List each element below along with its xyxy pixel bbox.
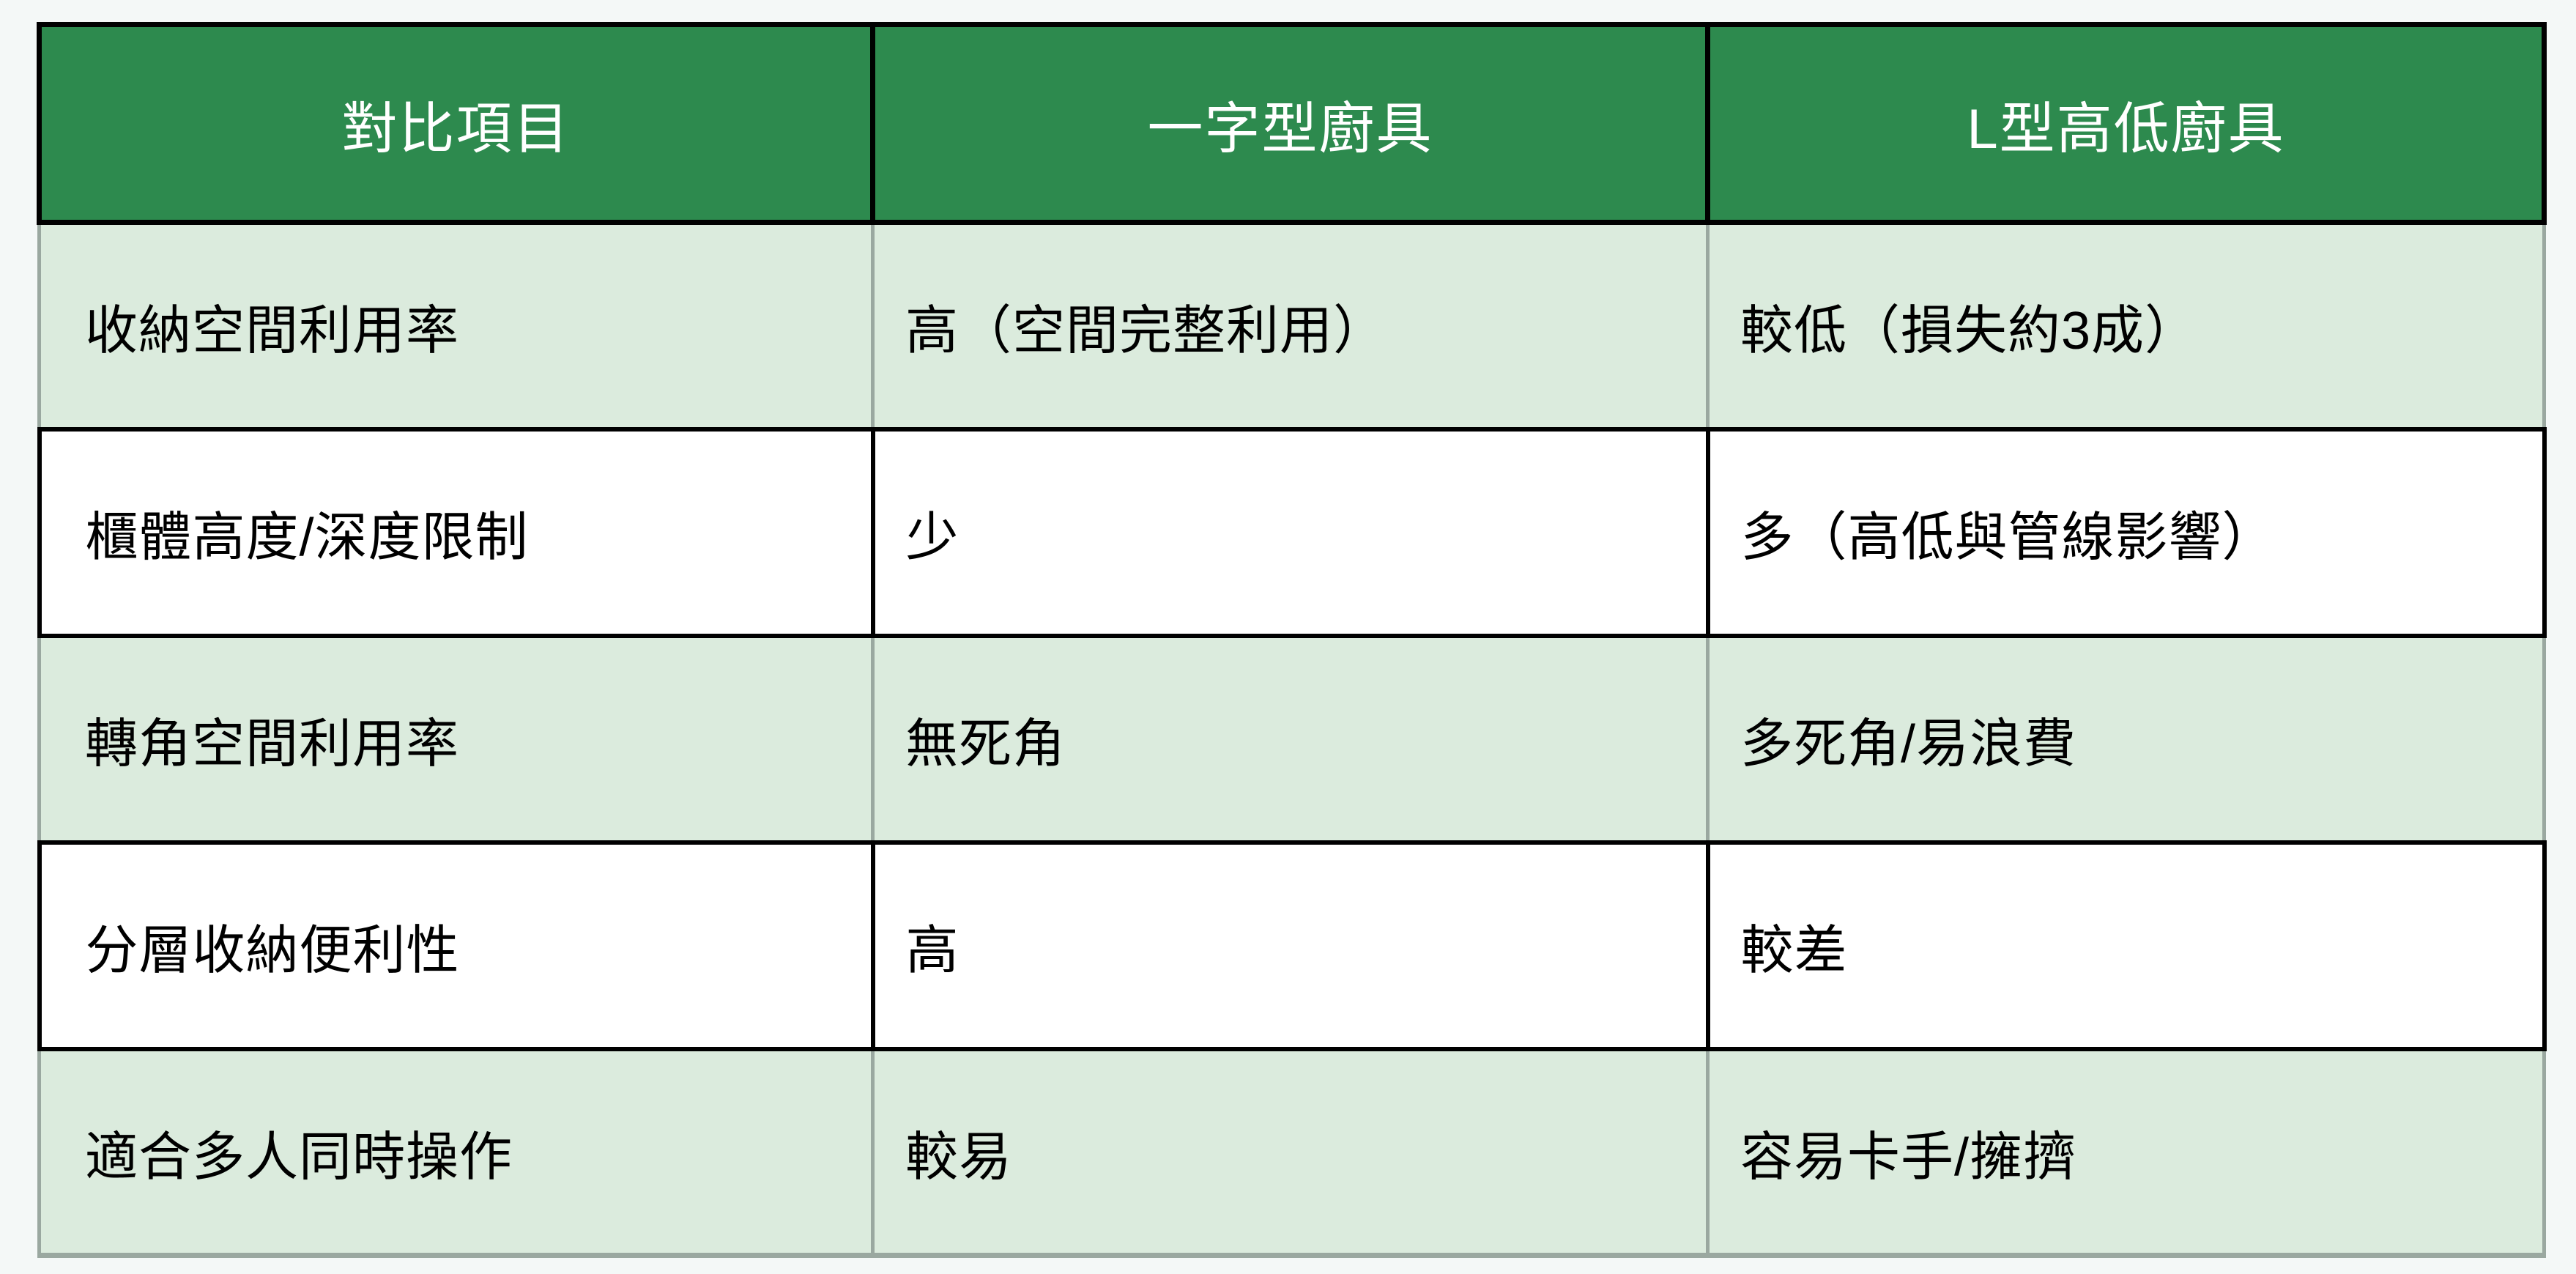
table-row: 櫃體高度/深度限制 少 多（高低與管線影響） [40, 429, 2545, 636]
row-label: 櫃體高度/深度限制 [40, 429, 873, 636]
table-header: 對比項目 一字型廚具 L型高低廚具 [40, 25, 2545, 223]
cell-l-shape-kitchen: 較差 [1708, 842, 2545, 1049]
cell-l-shape-kitchen: 多死角/易浪費 [1708, 636, 2545, 842]
table-row: 適合多人同時操作 較易 容易卡手/擁擠 [40, 1049, 2545, 1256]
cell-straight-kitchen: 高（空間完整利用） [873, 223, 1708, 429]
cell-straight-kitchen: 少 [873, 429, 1708, 636]
row-label: 適合多人同時操作 [40, 1049, 873, 1256]
table-body: 收納空間利用率 高（空間完整利用） 較低（損失約3成） 櫃體高度/深度限制 少 … [40, 223, 2545, 1256]
table-row: 收納空間利用率 高（空間完整利用） 較低（損失約3成） [40, 223, 2545, 429]
header-row: 對比項目 一字型廚具 L型高低廚具 [40, 25, 2545, 223]
column-header-item: 對比項目 [40, 25, 873, 223]
kitchen-layout-comparison-table: 對比項目 一字型廚具 L型高低廚具 收納空間利用率 高（空間完整利用） 較低（損… [37, 22, 2547, 1258]
cell-l-shape-kitchen: 容易卡手/擁擠 [1708, 1049, 2545, 1256]
column-header-straight-kitchen: 一字型廚具 [873, 25, 1708, 223]
cell-l-shape-kitchen: 多（高低與管線影響） [1708, 429, 2545, 636]
row-label: 收納空間利用率 [40, 223, 873, 429]
cell-straight-kitchen: 高 [873, 842, 1708, 1049]
cell-straight-kitchen: 無死角 [873, 636, 1708, 842]
comparison-table-container: 對比項目 一字型廚具 L型高低廚具 收納空間利用率 高（空間完整利用） 較低（損… [37, 22, 2542, 1253]
column-header-l-shape-kitchen: L型高低廚具 [1708, 25, 2545, 223]
table-row: 分層收納便利性 高 較差 [40, 842, 2545, 1049]
table-row: 轉角空間利用率 無死角 多死角/易浪費 [40, 636, 2545, 842]
cell-l-shape-kitchen: 較低（損失約3成） [1708, 223, 2545, 429]
cell-straight-kitchen: 較易 [873, 1049, 1708, 1256]
row-label: 分層收納便利性 [40, 842, 873, 1049]
row-label: 轉角空間利用率 [40, 636, 873, 842]
